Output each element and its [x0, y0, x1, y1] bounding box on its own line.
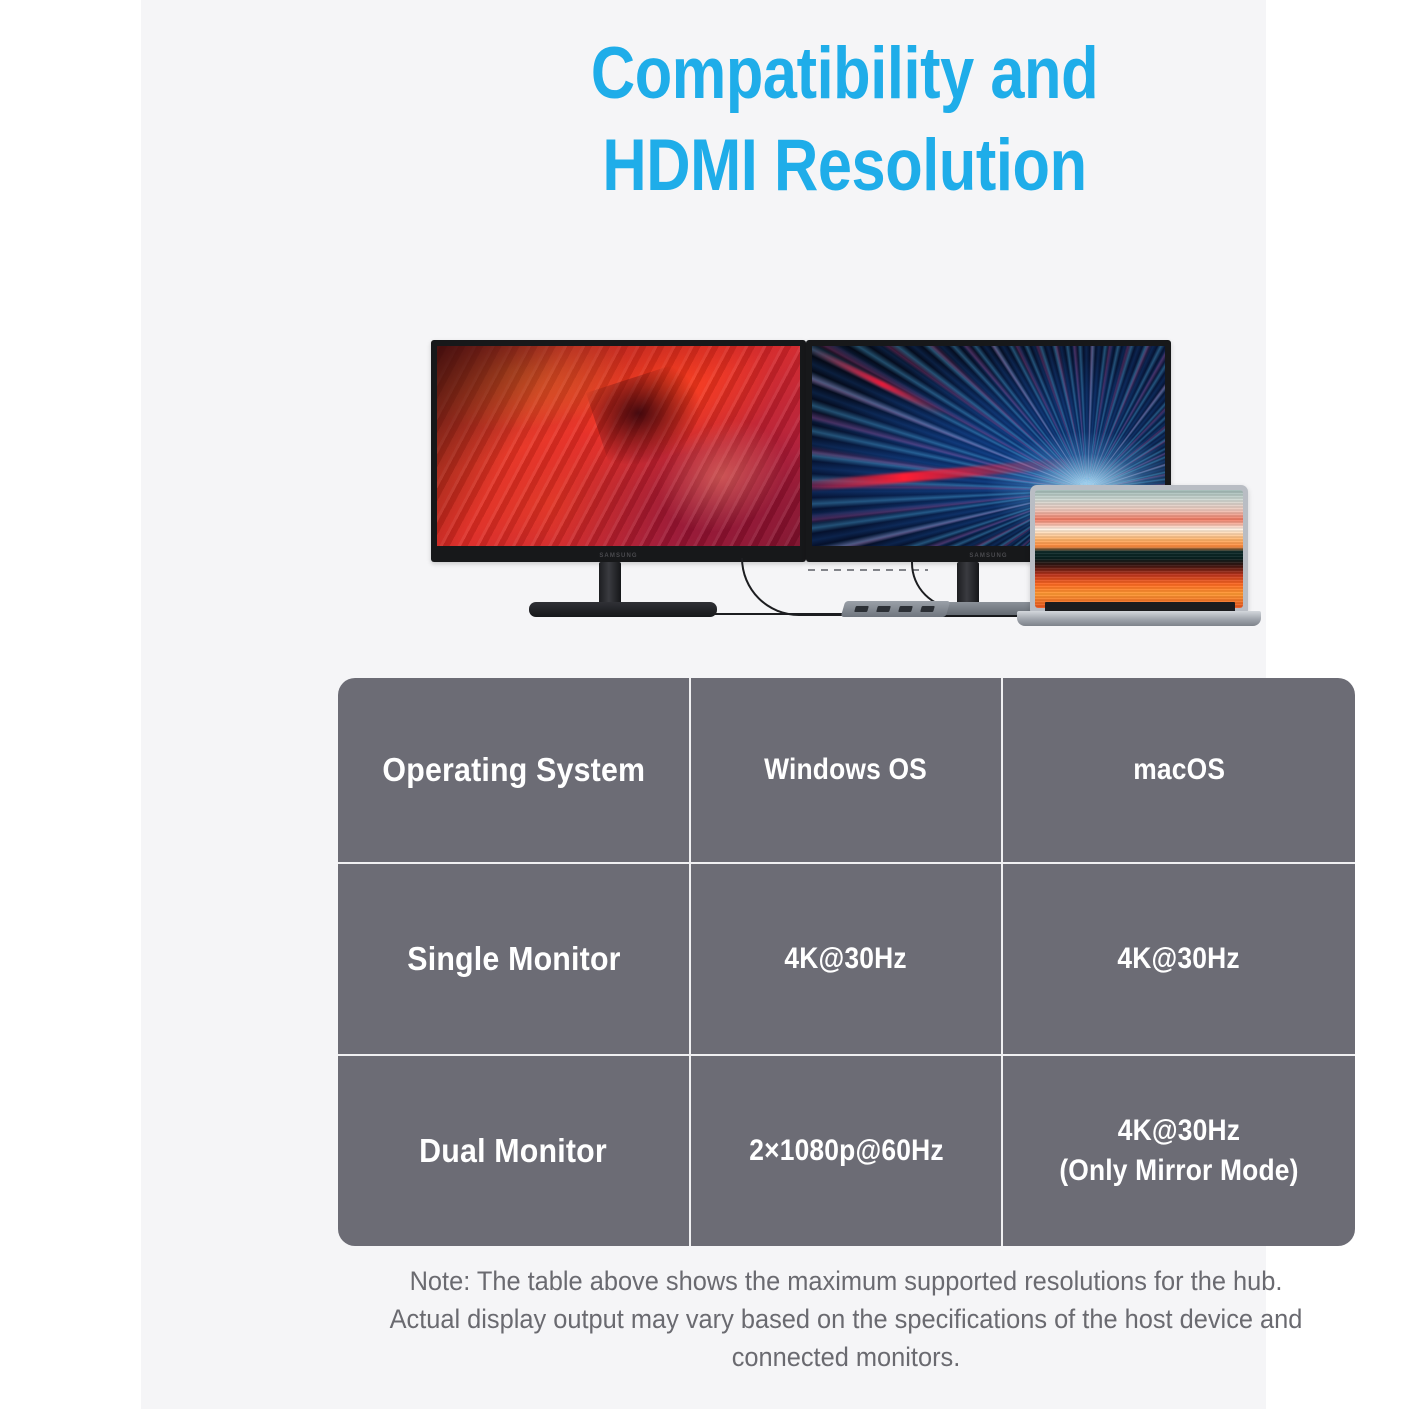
- laptop: [1030, 485, 1248, 613]
- usb-hub-dock: [841, 601, 951, 617]
- table-value-windows-dual: 2×1080p@60Hz: [749, 1131, 943, 1171]
- table-cell-windows-dual: 2×1080p@60Hz: [689, 1056, 1001, 1246]
- page-title-line-2: HDMI Resolution: [372, 120, 1317, 212]
- content-panel: Compatibility and HDMI Resolution SAMSUN…: [141, 0, 1266, 1409]
- page-title: Compatibility and HDMI Resolution: [282, 28, 1407, 212]
- table-row-label-dual-monitor: Dual Monitor: [420, 1132, 608, 1170]
- table-value-macos-dual-note: (Only Mirror Mode): [1059, 1151, 1298, 1191]
- table-row-label-single-monitor: Single Monitor: [407, 940, 620, 978]
- laptop-base: [1017, 611, 1261, 626]
- table-value-macos-dual: 4K@30Hz: [1118, 1114, 1240, 1147]
- footnote-line-2: Actual display output may vary based on …: [362, 1300, 1330, 1338]
- table-cell-row-label: Dual Monitor: [338, 1056, 689, 1246]
- page-title-line-1: Compatibility and: [372, 28, 1317, 120]
- table-header-cell-os: Operating System: [338, 678, 689, 862]
- table-value-macos-single: 4K@30Hz: [1118, 939, 1240, 979]
- footnote-line-1: Note: The table above shows the maximum …: [362, 1262, 1330, 1300]
- table-cell-windows-single: 4K@30Hz: [689, 864, 1001, 1054]
- compatibility-table: Operating System Windows OS macOS Single…: [338, 678, 1355, 1246]
- monitor-left: SAMSUNG: [431, 340, 806, 562]
- table-value-windows-single: 4K@30Hz: [785, 939, 907, 979]
- table-cell-row-label: Single Monitor: [338, 864, 689, 1054]
- footnote-line-3: connected monitors.: [362, 1338, 1330, 1376]
- table-header-row: Operating System Windows OS macOS: [338, 678, 1355, 862]
- marketing-infographic-page: Compatibility and HDMI Resolution SAMSUN…: [0, 0, 1409, 1409]
- table-header-label-windows: Windows OS: [765, 750, 928, 790]
- table-cell-macos-single: 4K@30Hz: [1001, 864, 1355, 1054]
- table-header-label-macos: macOS: [1133, 750, 1225, 790]
- table-row: Dual Monitor 2×1080p@60Hz 4K@30Hz (Only …: [338, 1054, 1355, 1246]
- table-header-label-os: Operating System: [382, 751, 645, 789]
- table-header-cell-windows: Windows OS: [689, 678, 1001, 862]
- table-row: Single Monitor 4K@30Hz 4K@30Hz: [338, 862, 1355, 1054]
- table-cell-macos-dual: 4K@30Hz (Only Mirror Mode): [1001, 1056, 1355, 1246]
- table-header-cell-macos: macOS: [1001, 678, 1355, 862]
- hero-product-image: SAMSUNG SAMSUNG: [411, 330, 1291, 635]
- monitor-left-wallpaper: [437, 346, 800, 546]
- footnote: Note: The table above shows the maximum …: [362, 1262, 1330, 1376]
- laptop-wallpaper: [1035, 490, 1243, 608]
- monitor-left-screen: [437, 346, 800, 546]
